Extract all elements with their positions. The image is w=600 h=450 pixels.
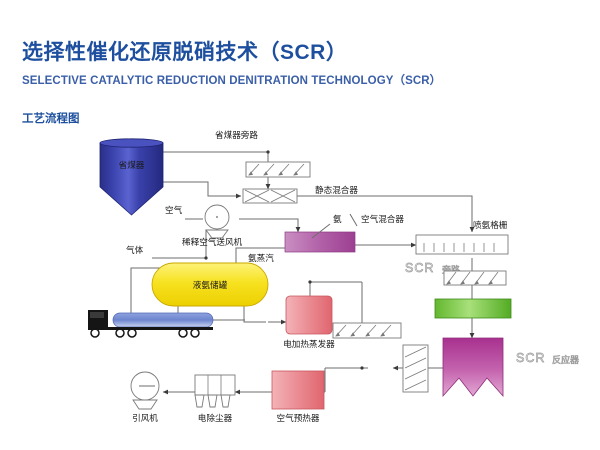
- equipment-ammonia-injection-grid[interactable]: [416, 235, 508, 254]
- static-mixer-label: 静态混合器: [315, 184, 358, 195]
- esp-label: 电除尘器: [198, 412, 233, 423]
- damper-preheater-bypass[interactable]: [333, 323, 401, 338]
- equipment-dilution-air-fan[interactable]: [205, 205, 229, 238]
- equipment-scr-reactor[interactable]: [443, 338, 503, 396]
- dilution-air-fan-label: 稀释空气送风机: [182, 236, 243, 247]
- equipment-tanker-truck[interactable]: [88, 310, 213, 337]
- id-fan-label: 引风机: [132, 412, 158, 423]
- equipment-ammonia-air-mixer[interactable]: [285, 224, 355, 252]
- equipment-esp[interactable]: [195, 375, 235, 407]
- ammonia-injection-grid-label: 喷氨格栅: [473, 219, 508, 230]
- equipment-economizer[interactable]: 省煤器: [100, 139, 163, 215]
- equipment-electric-evaporator[interactable]: [286, 296, 332, 334]
- damper-economizer-bypass[interactable]: [246, 162, 310, 177]
- scr-bypass-label: SCR: [405, 261, 434, 275]
- equipment-catalyst-bed[interactable]: [435, 299, 511, 318]
- scr-reactor-label-cn: 反应器: [552, 354, 579, 365]
- equipment-ammonia-storage-tank[interactable]: 液氨储罐: [152, 263, 268, 306]
- slide-canvas: 选择性催化还原脱硝技术（SCR） SELECTIVE CATALYTIC RED…: [0, 0, 600, 450]
- ammonia-air-mixer-label-a: 氨: [333, 213, 342, 224]
- equipment-id-fan[interactable]: [131, 372, 159, 409]
- ammonia-storage-tank-label: 液氨储罐: [193, 279, 228, 290]
- air-preheater-label: 空气预热器: [277, 412, 320, 423]
- ammonia-vapor-label: 氨蒸汽: [248, 252, 274, 263]
- economizer-label: 省煤器: [119, 159, 145, 170]
- damper-scr-bypass[interactable]: [444, 271, 506, 285]
- scr-reactor-label: SCR: [516, 351, 545, 365]
- gas-inlet-label: 气体: [126, 244, 144, 255]
- electric-evaporator-label: 电加热蒸发器: [283, 338, 335, 349]
- process-flow-diagram: 省煤器 省煤器旁路 静态混合器 空气 稀释: [0, 0, 600, 450]
- economizer-bypass-label: 省煤器旁路: [215, 129, 258, 140]
- air-inlet-label: 空气: [165, 204, 183, 215]
- ammonia-air-mixer-label-b: 空气混合器: [361, 213, 404, 224]
- equipment-air-preheater[interactable]: [272, 371, 324, 409]
- damper-reactor-outlet[interactable]: [403, 345, 428, 392]
- equipment-static-mixer[interactable]: [243, 189, 297, 203]
